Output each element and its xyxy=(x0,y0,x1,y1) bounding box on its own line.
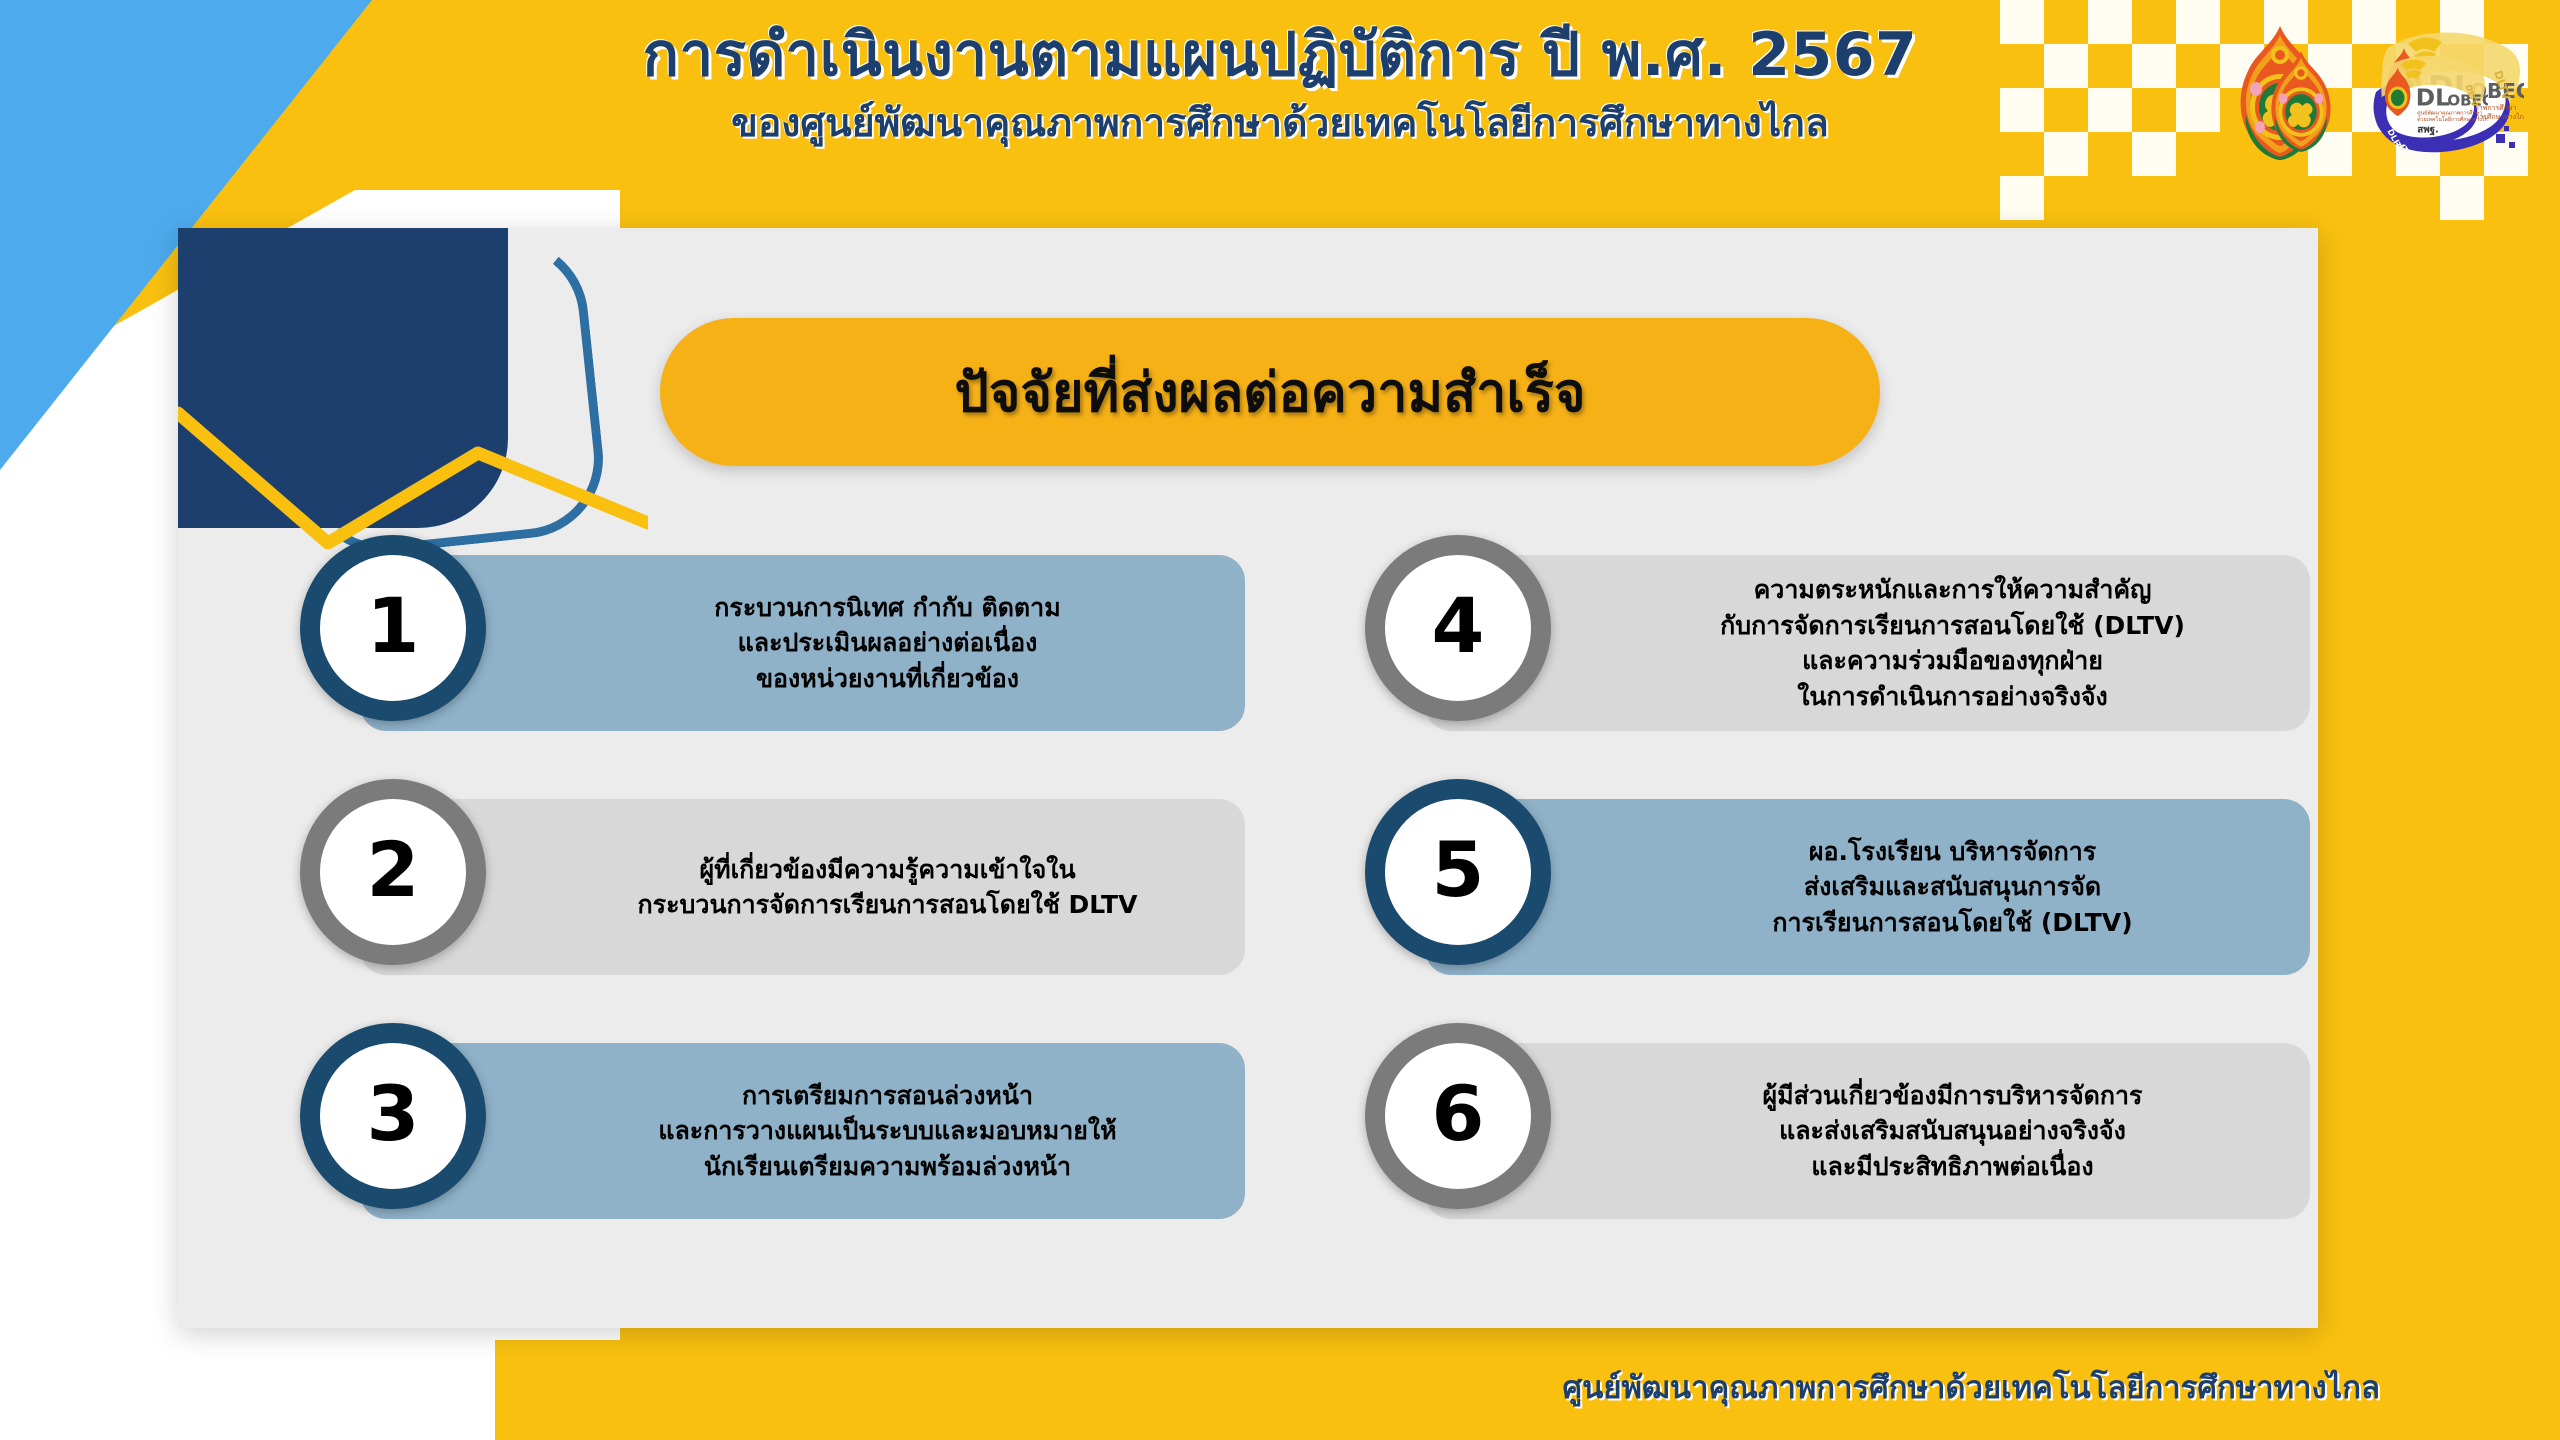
svg-text:DL: DL xyxy=(2416,83,2450,111)
factor-number-badge: 1 xyxy=(300,535,486,721)
page-subtitle: ของศูนย์พัฒนาคุณภาพการศึกษาด้วยเทคโนโลยี… xyxy=(0,99,2560,150)
factor-item-1[interactable]: กระบวนการนิเทศ กำกับ ติดตาม และประเมินผล… xyxy=(300,535,1245,751)
svg-text:ศูนย์พัฒนาคุณภาพการศึกษา: ศูนย์พัฒนาคุณภาพการศึกษา xyxy=(2417,109,2482,116)
dl-obec-logo-icon-card: DL OBEC ศูนย์พัฒนาคุณภาพการศึกษา ด้วยเทค… xyxy=(2354,48,2488,155)
factor-text: การเตรียมการสอนล่วงหน้า และการวางแผนเป็น… xyxy=(658,1078,1116,1185)
factor-bar: ผู้มีส่วนเกี่ยวข้องมีการบริหารจัดการ และ… xyxy=(1425,1043,2310,1219)
factor-number: 2 xyxy=(367,832,420,908)
factor-number: 3 xyxy=(367,1076,420,1152)
factor-number-badge: 4 xyxy=(1365,535,1551,721)
footer-text: ศูนย์พัฒนาคุณภาพการศึกษาด้วยเทคโนโลยีการ… xyxy=(1562,1362,2380,1412)
factor-text: ผู้ที่เกี่ยวข้องมีความรู้ความเข้าใจใน กร… xyxy=(638,852,1138,923)
factor-item-5[interactable]: ผอ.โรงเรียน บริหารจัดการ ส่งเสริมและสนับ… xyxy=(1365,779,2310,995)
yellow-v-line xyxy=(178,393,608,543)
factor-bar: ผอ.โรงเรียน บริหารจัดการ ส่งเสริมและสนับ… xyxy=(1425,799,2310,975)
section-banner-title: ปัจจัยที่ส่งผลต่อความสำเร็จ xyxy=(954,349,1585,435)
card-logo-group: DL OBEC ศูนย์พัฒนาคุณภาพการศึกษา ด้วยเทค… xyxy=(2262,48,2488,155)
factor-item-4[interactable]: ความตระหนักและการให้ความสำคัญ กับการจัดก… xyxy=(1365,535,2310,751)
slide-canvas: การดำเนินงานตามแผนปฏิบัติการ ปี พ.ศ. 256… xyxy=(0,0,2560,1440)
obec-emblem-icon-card xyxy=(2262,49,2340,154)
factor-number: 1 xyxy=(367,588,420,664)
factor-number-badge: 6 xyxy=(1365,1023,1551,1209)
factor-text: ผอ.โรงเรียน บริหารจัดการ ส่งเสริมและสนับ… xyxy=(1772,834,2132,941)
svg-text:สพฐ.: สพฐ. xyxy=(2417,124,2439,135)
factor-item-2[interactable]: ผู้ที่เกี่ยวข้องมีความรู้ความเข้าใจใน กร… xyxy=(300,779,1245,995)
factor-bar: กระบวนการนิเทศ กำกับ ติดตาม และประเมินผล… xyxy=(360,555,1245,731)
section-banner: ปัจจัยที่ส่งผลต่อความสำเร็จ xyxy=(660,318,1880,466)
factor-number: 4 xyxy=(1432,588,1485,664)
factor-item-6[interactable]: ผู้มีส่วนเกี่ยวข้องมีการบริหารจัดการ และ… xyxy=(1365,1023,2310,1239)
factor-number: 5 xyxy=(1432,832,1485,908)
factors-grid: กระบวนการนิเทศ กำกับ ติดตาม และประเมินผล… xyxy=(300,535,2310,1265)
factor-number-badge: 3 xyxy=(300,1023,486,1209)
factor-bar: ความตระหนักและการให้ความสำคัญ กับการจัดก… xyxy=(1425,555,2310,731)
factor-number-badge: 2 xyxy=(300,779,486,965)
factor-item-3[interactable]: การเตรียมการสอนล่วงหน้า และการวางแผนเป็น… xyxy=(300,1023,1245,1239)
factor-text: ผู้มีส่วนเกี่ยวข้องมีการบริหารจัดการ และ… xyxy=(1762,1078,2142,1185)
factor-bar: ผู้ที่เกี่ยวข้องมีความรู้ความเข้าใจใน กร… xyxy=(360,799,1245,975)
factor-text: กระบวนการนิเทศ กำกับ ติดตาม และประเมินผล… xyxy=(714,590,1060,697)
factor-text: ความตระหนักและการให้ความสำคัญ กับการจัดก… xyxy=(1720,572,2185,714)
factor-number-badge: 5 xyxy=(1365,779,1551,965)
page-title: การดำเนินงานตามแผนปฏิบัติการ ปี พ.ศ. 256… xyxy=(0,18,2560,93)
factor-bar: การเตรียมการสอนล่วงหน้า และการวางแผนเป็น… xyxy=(360,1043,1245,1219)
bottom-left-white-strip xyxy=(0,1340,495,1440)
slide-header: การดำเนินงานตามแผนปฏิบัติการ ปี พ.ศ. 256… xyxy=(0,18,2560,150)
factor-number: 6 xyxy=(1432,1076,1485,1152)
